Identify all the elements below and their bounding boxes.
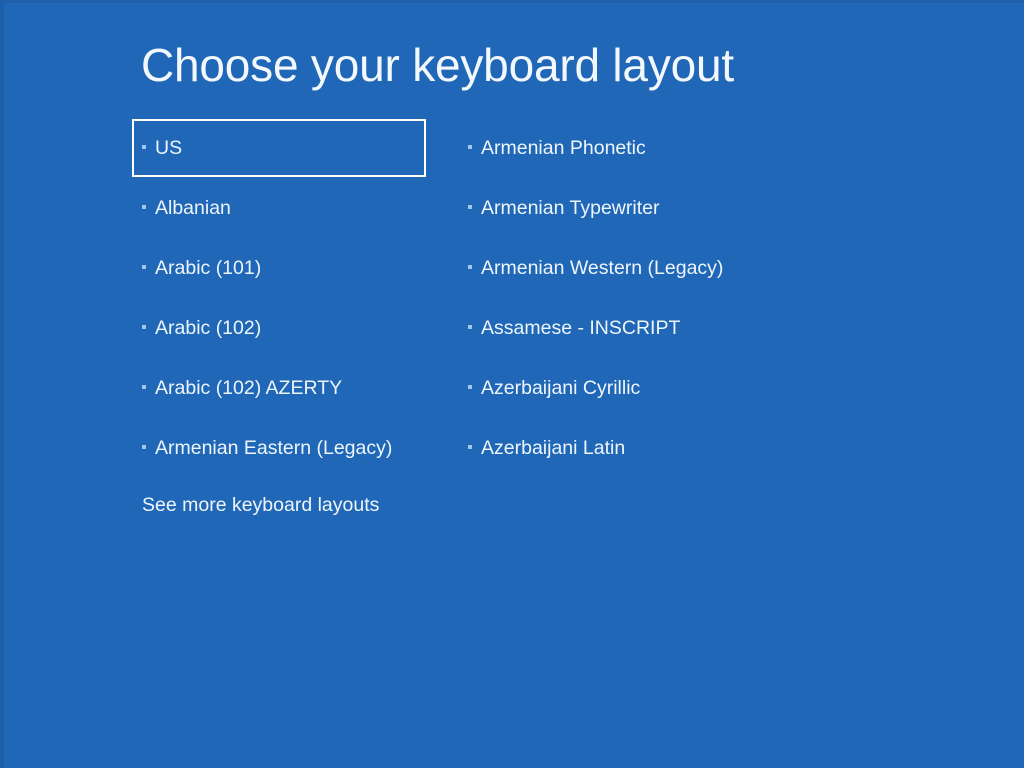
keyboard-layout-option[interactable]: Arabic (102) bbox=[132, 298, 428, 358]
keyboard-layout-option-label: Arabic (102) bbox=[155, 316, 261, 340]
bullet-dot-icon bbox=[142, 325, 146, 329]
keyboard-layout-option-label: Arabic (101) bbox=[155, 256, 261, 280]
keyboard-layout-option[interactable]: Assamese - INSCRIPT bbox=[458, 298, 788, 358]
keyboard-layout-list: USAlbanianArabic (101)Arabic (102)Arabic… bbox=[0, 118, 1024, 538]
keyboard-layout-option[interactable]: Armenian Western (Legacy) bbox=[458, 238, 788, 298]
keyboard-layout-option[interactable]: Azerbaijani Latin bbox=[458, 418, 788, 478]
keyboard-layout-option-label: Assamese - INSCRIPT bbox=[481, 316, 680, 340]
keyboard-layout-option-label: Azerbaijani Latin bbox=[481, 436, 625, 460]
keyboard-layout-option-label: Armenian Phonetic bbox=[481, 136, 646, 160]
keyboard-layout-option[interactable]: Azerbaijani Cyrillic bbox=[458, 358, 788, 418]
keyboard-layout-option-label: US bbox=[155, 136, 182, 160]
keyboard-layout-option-label: Azerbaijani Cyrillic bbox=[481, 376, 640, 400]
bullet-dot-icon bbox=[468, 265, 472, 269]
keyboard-layout-option[interactable]: Armenian Eastern (Legacy) bbox=[132, 418, 428, 478]
keyboard-layout-option[interactable]: US bbox=[132, 118, 428, 178]
keyboard-layout-option-label: Armenian Western (Legacy) bbox=[481, 256, 723, 280]
keyboard-layout-option[interactable]: Albanian bbox=[132, 178, 428, 238]
keyboard-layout-option[interactable]: Armenian Phonetic bbox=[458, 118, 788, 178]
bullet-dot-icon bbox=[142, 385, 146, 389]
keyboard-layout-option-label: Armenian Eastern (Legacy) bbox=[155, 436, 392, 460]
keyboard-layout-option[interactable]: Arabic (101) bbox=[132, 238, 428, 298]
bullet-dot-icon bbox=[142, 205, 146, 209]
bullet-dot-icon bbox=[142, 445, 146, 449]
keyboard-layout-option[interactable]: Armenian Typewriter bbox=[458, 178, 788, 238]
bullet-dot-icon bbox=[142, 145, 146, 149]
page-title: Choose your keyboard layout bbox=[141, 36, 734, 94]
keyboard-layout-option[interactable]: Arabic (102) AZERTY bbox=[132, 358, 428, 418]
bullet-dot-icon bbox=[468, 445, 472, 449]
screen-top-edge-band bbox=[0, 0, 1024, 3]
bullet-dot-icon bbox=[468, 205, 472, 209]
keyboard-layout-column-right: Armenian PhoneticArmenian TypewriterArme… bbox=[458, 118, 788, 478]
see-more-keyboard-layouts-link[interactable]: See more keyboard layouts bbox=[142, 492, 379, 518]
keyboard-layout-screen: Choose your keyboard layout USAlbanianAr… bbox=[0, 0, 1024, 768]
bullet-dot-icon bbox=[468, 325, 472, 329]
keyboard-layout-column-left: USAlbanianArabic (101)Arabic (102)Arabic… bbox=[132, 118, 428, 478]
bullet-dot-icon bbox=[142, 265, 146, 269]
keyboard-layout-option-label: Armenian Typewriter bbox=[481, 196, 659, 220]
bullet-dot-icon bbox=[468, 145, 472, 149]
keyboard-layout-option-label: Albanian bbox=[155, 196, 231, 220]
keyboard-layout-option-label: Arabic (102) AZERTY bbox=[155, 376, 342, 400]
bullet-dot-icon bbox=[468, 385, 472, 389]
